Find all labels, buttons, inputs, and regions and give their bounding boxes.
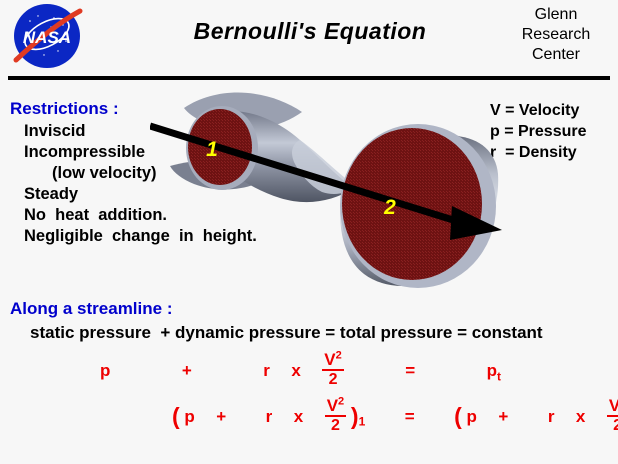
eq2-right-velocity-symbol: V bbox=[609, 396, 618, 415]
eq1-total-pressure-symbol: p bbox=[487, 361, 497, 380]
eq2-right-density-symbol: r bbox=[548, 407, 555, 427]
converging-diverging-nozzle-diagram: 1 2 bbox=[150, 78, 510, 293]
eq1-density-symbol: r bbox=[263, 361, 270, 381]
eq2-left-open-paren: ( bbox=[172, 405, 180, 428]
eq2-left-times-operator: x bbox=[294, 407, 303, 427]
nasa-logo-text: NASA bbox=[23, 28, 71, 47]
word-equation: static pressure + dynamic pressure = tot… bbox=[30, 323, 610, 343]
eq2-left-static-pressure: p bbox=[184, 407, 194, 427]
eq2-left-station-subscript: 1 bbox=[359, 414, 366, 428]
station-2-label: 2 bbox=[383, 196, 396, 219]
equation-row-1: p + r x V2 2 = pt bbox=[100, 352, 501, 389]
research-center-name: Glenn Research Center bbox=[508, 5, 604, 65]
eq1-fraction-denominator: 2 bbox=[322, 371, 343, 388]
center-line-3: Center bbox=[508, 45, 604, 65]
eq2-right-open-paren: ( bbox=[454, 405, 462, 428]
eq1-total-pressure-subscript: t bbox=[497, 369, 501, 383]
eq2-left-plus-operator: + bbox=[216, 407, 226, 427]
eq1-dynamic-pressure-fraction: V2 2 bbox=[322, 351, 343, 388]
center-line-1: Glenn bbox=[508, 5, 604, 25]
station-1-label: 1 bbox=[206, 138, 218, 161]
eq1-static-pressure: p bbox=[100, 361, 110, 381]
eq2-left-density-symbol: r bbox=[266, 407, 273, 427]
eq1-velocity-symbol: V bbox=[324, 350, 335, 369]
eq1-plus-operator: + bbox=[182, 361, 192, 381]
page-title: Bernoulli's Equation bbox=[120, 18, 500, 45]
eq1-equals-operator: = bbox=[405, 361, 415, 381]
eq2-left-velocity-exponent: 2 bbox=[338, 395, 344, 407]
eq2-left-velocity-symbol: V bbox=[327, 396, 338, 415]
eq2-right-static-pressure: p bbox=[467, 407, 477, 427]
eq2-right-fraction-denominator: 2 bbox=[607, 417, 618, 434]
center-line-2: Research bbox=[508, 25, 604, 45]
eq2-right-plus-operator: + bbox=[498, 407, 508, 427]
eq2-left-dynamic-pressure-fraction: V2 2 bbox=[325, 397, 346, 434]
eq1-times-operator: x bbox=[291, 361, 300, 381]
eq2-left-fraction-denominator: 2 bbox=[325, 417, 346, 434]
eq2-right-dynamic-pressure-fraction: V2 2 bbox=[607, 397, 618, 434]
eq2-left-fraction-numerator: V2 bbox=[325, 397, 346, 417]
eq1-velocity-exponent: 2 bbox=[336, 349, 342, 361]
streamline-heading: Along a streamline : bbox=[10, 299, 172, 319]
eq2-left-close-paren: ) bbox=[351, 405, 359, 428]
bernoulli-equation-slide: NASA Bernoulli's Equation Glenn Research… bbox=[0, 0, 618, 464]
eq2-right-fraction-numerator: V2 bbox=[607, 397, 618, 417]
eq2-equals-operator: = bbox=[405, 407, 415, 427]
equation-row-2: ( p + r x V2 2 )1 = ( p + r x V2 2 )2 bbox=[172, 398, 618, 435]
eq2-right-times-operator: x bbox=[576, 407, 585, 427]
eq1-total-pressure: pt bbox=[487, 361, 501, 381]
eq1-fraction-numerator: V2 bbox=[322, 351, 343, 371]
nasa-meatball-logo: NASA bbox=[8, 3, 86, 70]
